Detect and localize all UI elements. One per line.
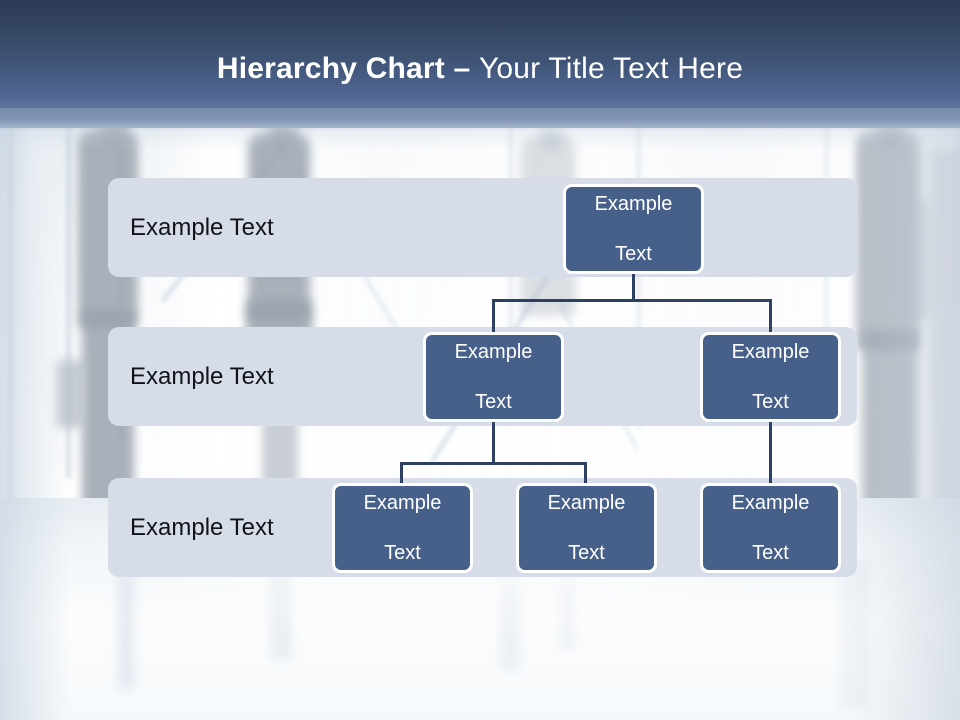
node-level3-2-line2: Text xyxy=(542,541,632,566)
node-level3-1-label: ExampleText xyxy=(352,491,454,566)
node-level3-3-line2: Text xyxy=(726,541,816,566)
node-level1-1-line1: Example xyxy=(589,192,679,217)
row-band-level-1[interactable]: Example Text xyxy=(108,178,857,277)
node-level3-3[interactable]: ExampleText xyxy=(700,483,841,573)
connector-level2-right-to-level3-node3 xyxy=(769,421,772,484)
background-window-wall xyxy=(0,118,960,498)
node-level1-1-line2: Text xyxy=(589,242,679,267)
node-level2-1-line2: Text xyxy=(449,390,539,415)
node-level2-2[interactable]: ExampleText xyxy=(700,332,841,422)
connector-to-level2-left xyxy=(492,299,495,333)
node-level2-2-line1: Example xyxy=(726,340,816,365)
node-level2-1[interactable]: ExampleText xyxy=(423,332,564,422)
node-level2-1-line1: Example xyxy=(449,340,539,365)
row-label-level-1: Example Text xyxy=(130,214,274,242)
node-level2-1-label: ExampleText xyxy=(443,340,545,415)
connector-level2-left-bus xyxy=(400,462,587,465)
node-level1-1-label: ExampleText xyxy=(583,192,685,267)
row-label-level-2: Example Text xyxy=(130,363,274,391)
page-title-regular: Your Title Text Here xyxy=(479,52,743,85)
connector-level2-left-stem xyxy=(492,421,495,465)
background-right-tint xyxy=(850,118,960,720)
page-title: Hierarchy Chart – Your Title Text Here xyxy=(0,50,960,88)
node-level2-2-label: ExampleText xyxy=(720,340,822,415)
header-fade xyxy=(0,108,960,150)
node-level3-2-label: ExampleText xyxy=(536,491,638,566)
node-level3-3-line1: Example xyxy=(726,491,816,516)
node-level3-3-label: ExampleText xyxy=(720,491,822,566)
connector-root-stem xyxy=(632,273,635,302)
node-level3-2-line1: Example xyxy=(542,491,632,516)
background-left-tint xyxy=(0,118,70,720)
node-level3-1-line1: Example xyxy=(358,491,448,516)
row-label-level-3: Example Text xyxy=(130,514,274,542)
page-title-bold: Hierarchy Chart – xyxy=(217,52,479,85)
slide-canvas: Hierarchy Chart – Your Title Text Here E… xyxy=(0,0,960,720)
node-level2-2-line2: Text xyxy=(726,390,816,415)
connector-level1-bus xyxy=(492,299,772,302)
node-level3-1[interactable]: ExampleText xyxy=(332,483,473,573)
node-level3-2[interactable]: ExampleText xyxy=(516,483,657,573)
connector-to-level3-node1 xyxy=(400,462,403,484)
connector-to-level2-right xyxy=(769,299,772,333)
node-level1-1[interactable]: ExampleText xyxy=(563,184,704,274)
node-level3-1-line2: Text xyxy=(358,541,448,566)
connector-to-level3-node2 xyxy=(584,462,587,484)
